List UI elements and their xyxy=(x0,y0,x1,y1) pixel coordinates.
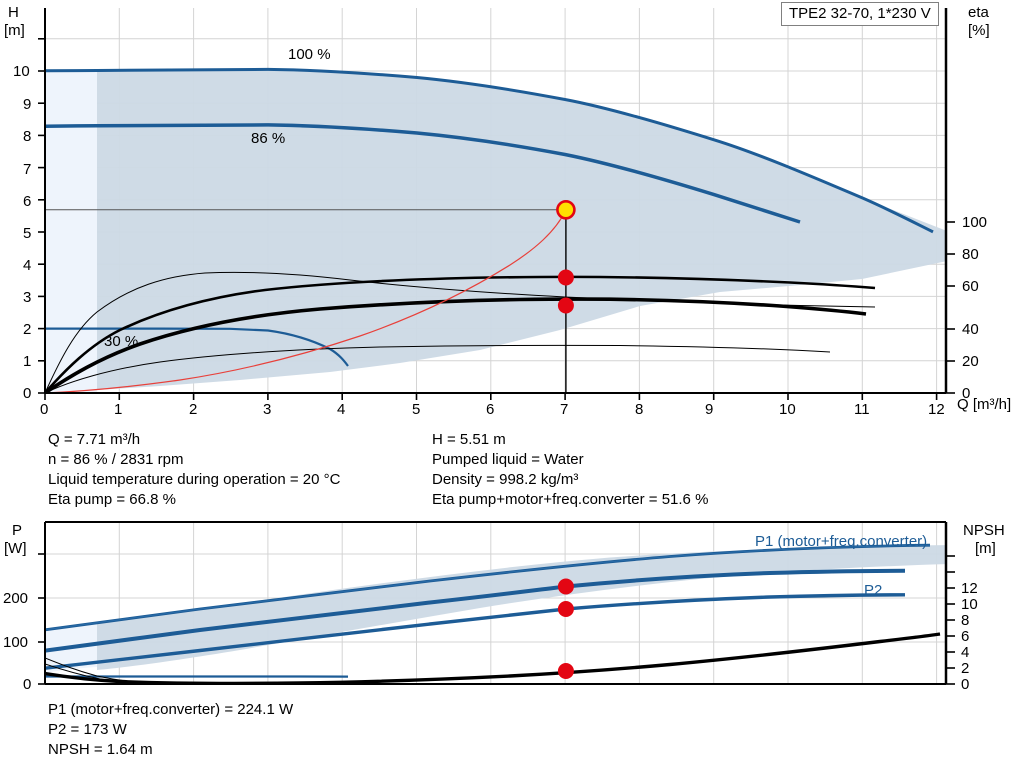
top-x-tick-10: 10 xyxy=(779,401,796,418)
top-y-tick-3: 3 xyxy=(23,289,31,306)
top-y-tick-0: 0 xyxy=(23,385,31,402)
top-x-tick-6: 6 xyxy=(486,401,494,418)
top-x-tick-0: 0 xyxy=(40,401,48,418)
curve-label-30pct: 30 % xyxy=(104,333,138,350)
top-x-tick-2: 2 xyxy=(189,401,197,418)
readout-eta-total: Eta pump+motor+freq.converter = 51.6 % xyxy=(432,490,708,510)
top-y-tick-2: 2 xyxy=(23,321,31,338)
top-y-tick-7: 7 xyxy=(23,161,31,178)
top-y2-axis-unit: [%] xyxy=(968,22,990,39)
top-x-ticks xyxy=(45,393,937,400)
readout-p1: P1 (motor+freq.converter) = 224.1 W xyxy=(48,700,293,720)
top-y2-tick-100: 100 xyxy=(962,214,987,231)
readout-pumped-liquid: Pumped liquid = Water xyxy=(432,450,708,470)
bottom-y-tick-0: 0 xyxy=(23,676,31,693)
top-x-tick-11: 11 xyxy=(854,401,870,418)
readout-right-column: H = 5.51 m Pumped liquid = Water Density… xyxy=(432,430,708,510)
operating-point-p2-marker xyxy=(558,601,574,617)
top-x-tick-7: 7 xyxy=(560,401,568,418)
top-y2-tick-80: 80 xyxy=(962,246,979,263)
top-y-tick-4: 4 xyxy=(23,257,31,274)
bottom-y-axis-title: P xyxy=(12,522,22,539)
pump-performance-chart-page: H [m] 0 1 2 3 4 5 6 7 8 9 10 0 1 2 3 4 5… xyxy=(0,0,1024,781)
top-band-min-speed xyxy=(45,71,97,393)
curve-label-100pct: 100 % xyxy=(288,46,331,63)
bottom-y2-axis-unit: [m] xyxy=(975,540,996,557)
top-y2-ticks xyxy=(946,222,955,393)
top-y-tick-10: 10 xyxy=(13,63,30,80)
bottom-y2-ticks xyxy=(946,556,955,684)
top-y-tick-9: 9 xyxy=(23,96,31,113)
top-x-tick-5: 5 xyxy=(412,401,420,418)
curve-label-86pct: 86 % xyxy=(251,130,285,147)
bottom-y-ticks xyxy=(38,554,45,684)
top-y2-tick-40: 40 xyxy=(962,321,979,338)
pump-title-box: TPE2 32-70, 1*230 V xyxy=(781,2,939,26)
top-x-tick-1: 1 xyxy=(114,401,122,418)
operating-point-p1-marker xyxy=(558,579,574,595)
top-y2-tick-0: 0 xyxy=(962,385,970,402)
bottom-y2-tick-4: 4 xyxy=(961,644,969,661)
operating-point-duty-marker[interactable] xyxy=(557,201,574,218)
readout-npsh: NPSH = 1.64 m xyxy=(48,740,293,760)
top-y-tick-8: 8 xyxy=(23,128,31,145)
bottom-y2-axis-title: NPSH xyxy=(963,522,1005,539)
operating-point-eta-pump-marker xyxy=(558,270,574,286)
bottom-y2-tick-2: 2 xyxy=(961,660,969,677)
bottom-y2-tick-10: 10 xyxy=(961,596,978,613)
operating-point-npsh-marker xyxy=(558,663,574,679)
bottom-y-tick-200: 200 xyxy=(3,590,28,607)
top-y2-tick-20: 20 xyxy=(962,353,979,370)
bottom-y-axis-unit: [W] xyxy=(4,540,27,557)
head-curve-chart xyxy=(0,0,1024,420)
top-y-axis-title: H xyxy=(8,4,19,21)
top-x-tick-3: 3 xyxy=(263,401,271,418)
top-x-tick-8: 8 xyxy=(635,401,643,418)
top-y-axis-unit: [m] xyxy=(4,22,25,39)
readout-eta-pump: Eta pump = 66.8 % xyxy=(48,490,340,510)
bottom-y2-tick-0: 0 xyxy=(961,676,969,693)
operating-point-eta-total-marker xyxy=(558,298,574,314)
readout-density: Density = 998.2 kg/m³ xyxy=(432,470,708,490)
top-x-tick-12: 12 xyxy=(928,401,945,418)
top-y2-tick-60: 60 xyxy=(962,278,979,295)
readout-head: H = 5.51 m xyxy=(432,430,708,450)
top-x-tick-4: 4 xyxy=(337,401,345,418)
bottom-y2-tick-8: 8 xyxy=(961,612,969,629)
top-x-tick-9: 9 xyxy=(705,401,713,418)
top-y2-axis-title: eta xyxy=(968,4,989,21)
readout-flow: Q = 7.71 m³/h xyxy=(48,430,340,450)
bottom-y2-tick-12: 12 xyxy=(961,580,978,597)
bottom-y-tick-100: 100 xyxy=(3,634,28,651)
top-y-tick-1: 1 xyxy=(23,353,31,370)
curve-label-p2: P2 xyxy=(864,582,882,599)
readout-p2: P2 = 173 W xyxy=(48,720,293,740)
readout-left-column: Q = 7.71 m³/h n = 86 % / 2831 rpm Liquid… xyxy=(48,430,340,510)
bottom-y2-tick-6: 6 xyxy=(961,628,969,645)
readout-speed: n = 86 % / 2831 rpm xyxy=(48,450,340,470)
readout-liquid-temperature: Liquid temperature during operation = 20… xyxy=(48,470,340,490)
top-y-tick-6: 6 xyxy=(23,193,31,210)
readout-bottom-column: P1 (motor+freq.converter) = 224.1 W P2 =… xyxy=(48,700,293,760)
curve-label-p1: P1 (motor+freq.converter) xyxy=(755,533,927,550)
top-y-tick-5: 5 xyxy=(23,225,31,242)
top-y-ticks xyxy=(38,39,45,393)
